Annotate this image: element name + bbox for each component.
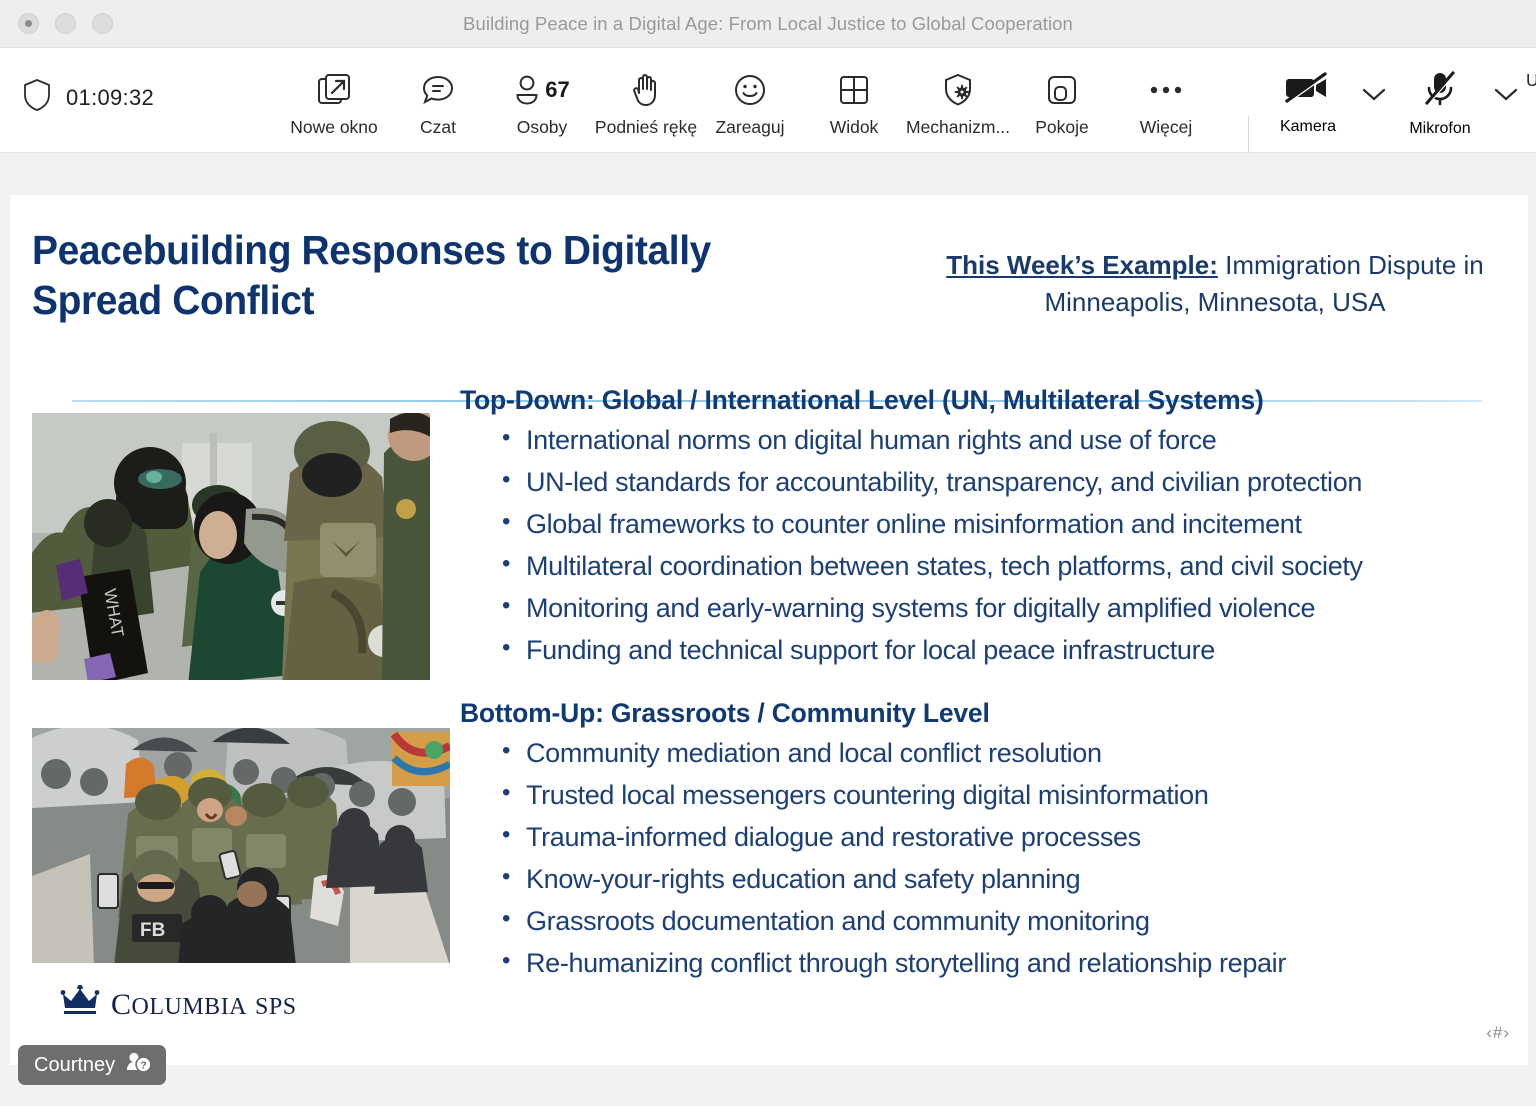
bullet-item: Monitoring and early-warning systems for… bbox=[502, 588, 1520, 630]
chat-button[interactable]: Czat bbox=[386, 48, 490, 138]
window-close-button[interactable] bbox=[18, 13, 39, 34]
presentation-stage: Peacebuilding Responses to Digitally Spr… bbox=[0, 153, 1536, 1106]
weekly-example: This Week’s Example: Immigration Dispute… bbox=[910, 247, 1520, 321]
window-title: Building Peace in a Digital Age: From Lo… bbox=[0, 13, 1536, 35]
people-button[interactable]: 67 Osoby bbox=[490, 48, 594, 138]
microphone-button[interactable]: Mikrofon bbox=[1394, 48, 1486, 138]
rooms-button[interactable]: Pokoje bbox=[1010, 48, 1114, 138]
rooms-label: Pokoje bbox=[1035, 117, 1089, 138]
section-heading: Top-Down: Global / International Level (… bbox=[460, 385, 1520, 416]
camera-label: Kamera bbox=[1280, 118, 1336, 136]
more-ellipsis-icon bbox=[1149, 70, 1183, 110]
more-label: Więcej bbox=[1140, 117, 1193, 138]
more-button[interactable]: Więcej bbox=[1114, 48, 1218, 138]
section-heading: Bottom-Up: Grassroots / Community Level bbox=[460, 698, 1520, 729]
window-controls bbox=[0, 13, 113, 34]
chevron-down-icon bbox=[1494, 88, 1518, 107]
people-label: Osoby bbox=[517, 117, 568, 138]
people-count: 67 bbox=[545, 77, 569, 103]
bullet-item: UN-led standards for accountability, tra… bbox=[502, 462, 1520, 504]
people-icon: 67 bbox=[514, 70, 569, 110]
toolbar-device-group: Kamera Mikrofon U bbox=[1262, 48, 1536, 153]
camera-button[interactable]: Kamera bbox=[1262, 48, 1354, 136]
window-titlebar: Building Peace in a Digital Age: From Lo… bbox=[0, 0, 1536, 48]
columbia-sps-logo: COLUMBIA SPS bbox=[60, 985, 297, 1020]
chat-label: Czat bbox=[420, 117, 456, 138]
bullet-list: International norms on digital human rig… bbox=[502, 420, 1520, 672]
shield-gear-icon bbox=[942, 70, 974, 110]
columbia-sps-wordmark: COLUMBIA SPS bbox=[111, 990, 297, 1020]
presenter-name: Courtney bbox=[34, 1054, 115, 1077]
new-window-icon bbox=[317, 70, 351, 110]
svg-text:?: ? bbox=[140, 1060, 146, 1072]
bullet-item: Multilateral coordination between states… bbox=[502, 546, 1520, 588]
toolbar-left-group: 01:09:32 bbox=[0, 48, 154, 117]
bullet-item: Know-your-rights education and safety pl… bbox=[502, 859, 1520, 901]
photo-officers-confronting-civilian: WHAT bbox=[32, 413, 430, 680]
window-minimize-button[interactable] bbox=[55, 13, 76, 34]
slide-canvas: Peacebuilding Responses to Digitally Spr… bbox=[10, 195, 1528, 1065]
bullet-item: Grassroots documentation and community m… bbox=[502, 901, 1520, 943]
new-window-label: Nowe okno bbox=[290, 117, 378, 138]
slide-title: Peacebuilding Responses to Digitally Spr… bbox=[32, 225, 773, 325]
microphone-options-button[interactable] bbox=[1486, 48, 1526, 107]
camera-options-button[interactable] bbox=[1354, 48, 1394, 107]
mechanisms-label: Mechanizm... bbox=[906, 117, 1010, 138]
microphone-label: Mikrofon bbox=[1409, 120, 1470, 138]
bullet-item: Community mediation and local conflict r… bbox=[502, 733, 1520, 775]
bullet-item: Global frameworks to counter online misi… bbox=[502, 504, 1520, 546]
chevron-down-icon bbox=[1362, 88, 1386, 107]
new-window-button[interactable]: Nowe okno bbox=[282, 48, 386, 138]
breakout-rooms-icon bbox=[1046, 70, 1078, 110]
person-question-icon: ? bbox=[126, 1051, 152, 1079]
bullet-item: Re-humanizing conflict through storytell… bbox=[502, 943, 1520, 985]
raise-hand-label: Podnieś rękę bbox=[595, 117, 697, 138]
clipped-toolbar-label[interactable]: U bbox=[1526, 48, 1536, 91]
view-button[interactable]: Widok bbox=[802, 48, 906, 138]
slide-body: Top-Down: Global / International Level (… bbox=[460, 385, 1520, 985]
bullet-item: Trauma-informed dialogue and restorative… bbox=[502, 817, 1520, 859]
raise-hand-icon bbox=[630, 70, 662, 110]
section-bottom-up: Bottom-Up: Grassroots / Community Level … bbox=[460, 698, 1520, 985]
view-grid-icon bbox=[838, 70, 870, 110]
react-smiley-icon bbox=[733, 70, 767, 110]
bullet-item: Trusted local messengers countering digi… bbox=[502, 775, 1520, 817]
view-label: Widok bbox=[830, 117, 879, 138]
meeting-toolbar: 01:09:32 Nowe okno Czat bbox=[0, 48, 1536, 153]
bullet-item: International norms on digital human rig… bbox=[502, 420, 1520, 462]
microphone-off-icon bbox=[1422, 70, 1458, 113]
shield-icon bbox=[22, 78, 52, 117]
react-button[interactable]: Zareaguj bbox=[698, 48, 802, 138]
slide-number-placeholder: ‹#› bbox=[1486, 1023, 1510, 1043]
mechanisms-button[interactable]: Mechanizm... bbox=[906, 48, 1010, 138]
bullet-list: Community mediation and local conflict r… bbox=[502, 733, 1520, 985]
chat-icon bbox=[421, 70, 455, 110]
toolbar-actions: Nowe okno Czat 67 Osoby bbox=[282, 48, 1218, 153]
meeting-timer: 01:09:32 bbox=[66, 85, 154, 111]
photo-crowd-federal-agents: FB bbox=[32, 728, 450, 963]
columbia-crown-icon bbox=[60, 985, 100, 1020]
react-label: Zareaguj bbox=[715, 117, 784, 138]
bullet-item: Funding and technical support for local … bbox=[502, 630, 1520, 672]
presenter-name-badge: Courtney ? bbox=[18, 1045, 166, 1085]
window-maximize-button[interactable] bbox=[92, 13, 113, 34]
section-top-down: Top-Down: Global / International Level (… bbox=[460, 385, 1520, 672]
camera-off-icon bbox=[1285, 70, 1331, 111]
weekly-example-lead: This Week’s Example: bbox=[946, 250, 1218, 280]
raise-hand-button[interactable]: Podnieś rękę bbox=[594, 48, 698, 138]
